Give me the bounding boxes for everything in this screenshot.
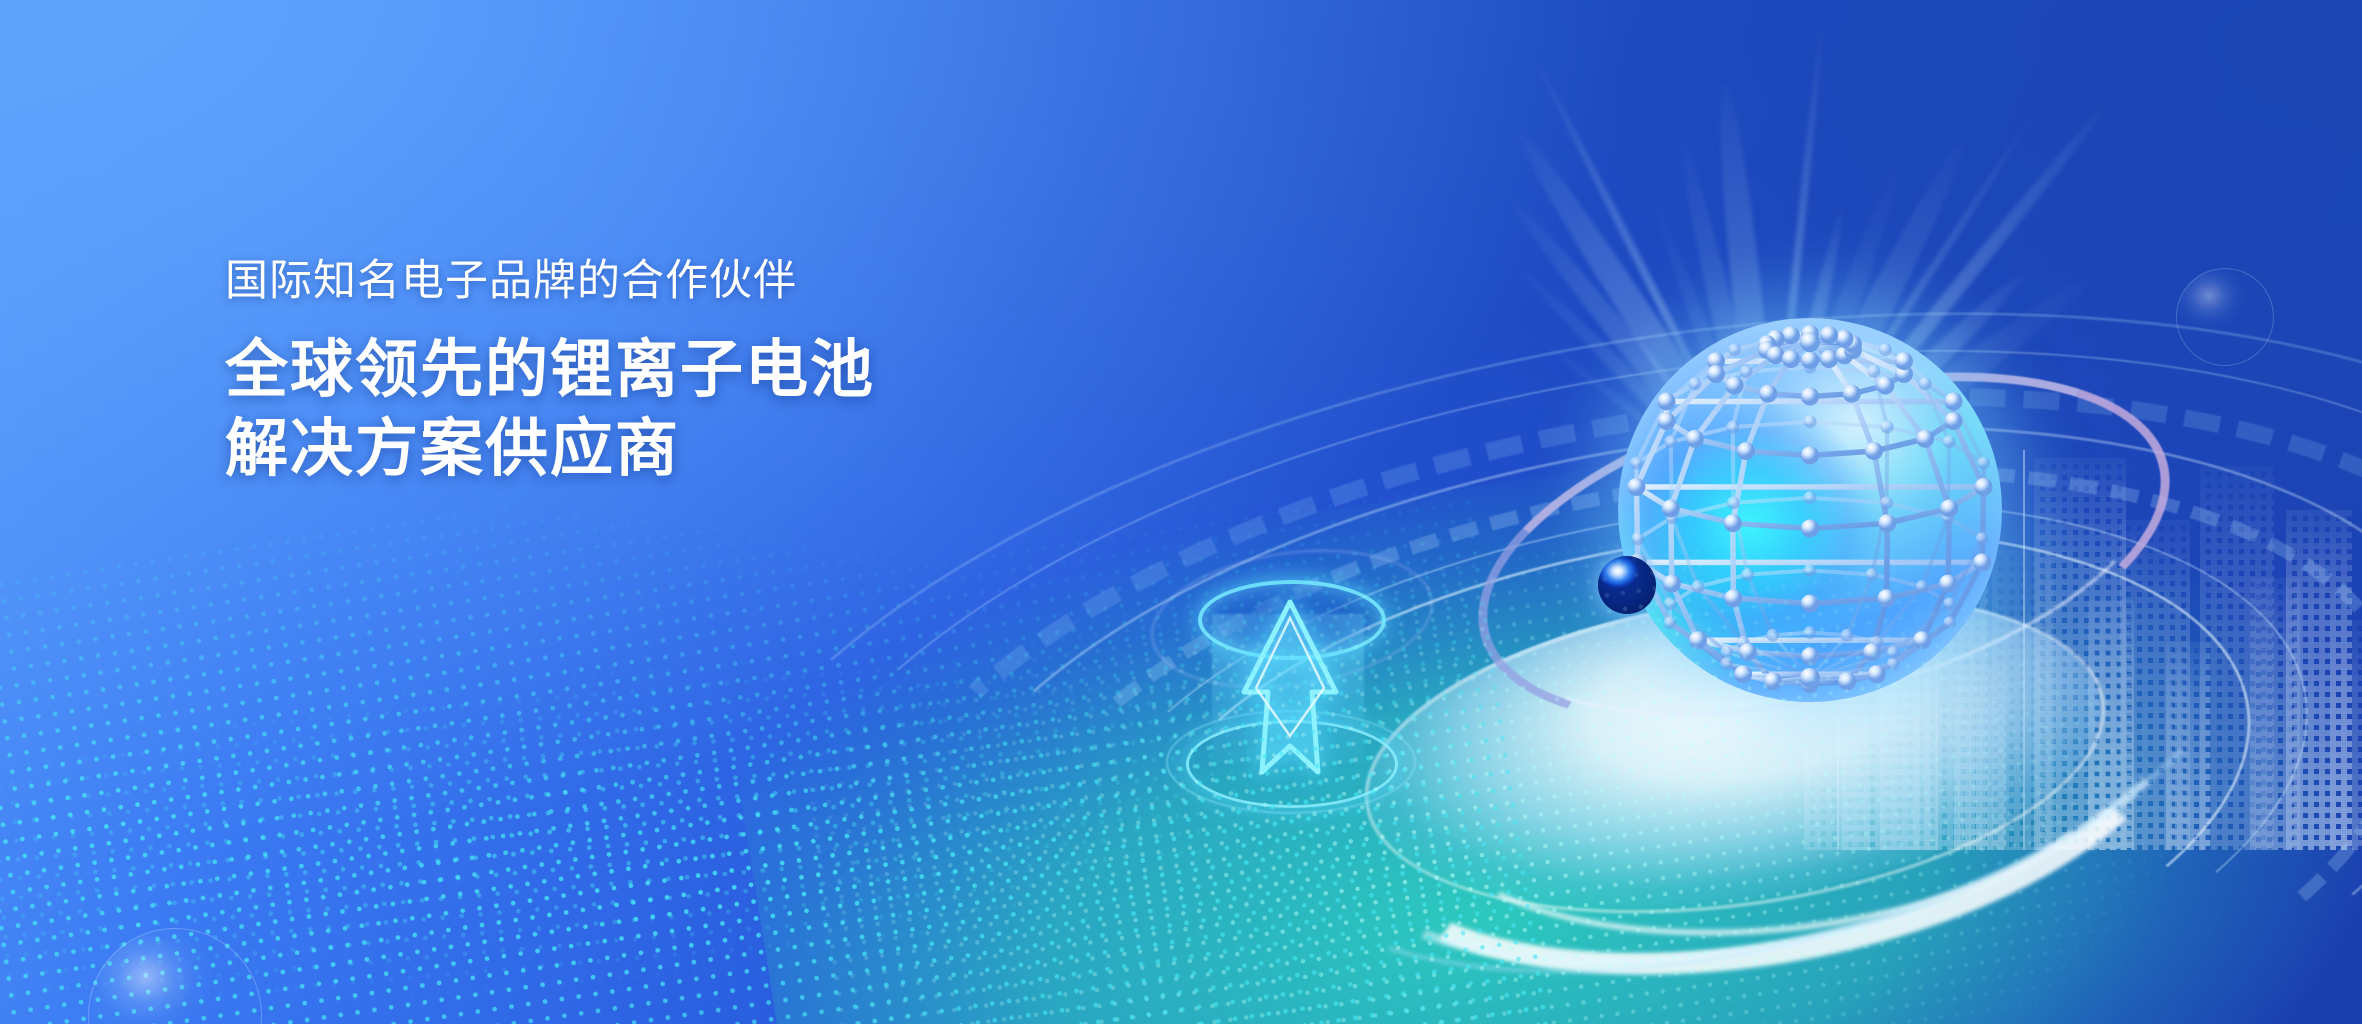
globe-node bbox=[1835, 330, 1853, 348]
globe-pole-node bbox=[1800, 332, 1820, 352]
globe-node bbox=[1662, 499, 1680, 517]
globe-node bbox=[1820, 350, 1838, 368]
globe-node bbox=[1688, 377, 1701, 390]
globe-node bbox=[1726, 421, 1739, 434]
hero-copy: 国际知名电子品牌的合作伙伴 全球领先的锂离子电池 解决方案供应商 bbox=[225, 255, 875, 490]
hero-headline-line1: 全球领先的锂离子电池 bbox=[225, 331, 875, 410]
globe-node bbox=[1801, 446, 1819, 464]
globe-node bbox=[1707, 365, 1725, 383]
globe-node bbox=[1945, 412, 1963, 430]
globe-node bbox=[1767, 346, 1785, 364]
globe-node bbox=[1879, 343, 1892, 356]
globe-node bbox=[1664, 435, 1677, 448]
globe-node bbox=[1895, 352, 1913, 370]
globe-node bbox=[1728, 343, 1741, 356]
globe-node bbox=[1759, 385, 1777, 403]
globe-node bbox=[1977, 457, 1990, 470]
hero-subtitle: 国际知名电子品牌的合作伙伴 bbox=[225, 255, 875, 309]
globe-node bbox=[1801, 351, 1819, 369]
globe-node bbox=[1865, 442, 1883, 460]
globe-node bbox=[1919, 377, 1932, 390]
globe-node bbox=[1737, 442, 1755, 460]
globe-node bbox=[1686, 430, 1704, 448]
globe-node bbox=[1945, 393, 1963, 411]
globe-node bbox=[1726, 377, 1744, 395]
globe-node bbox=[1782, 326, 1800, 344]
globe-node bbox=[1820, 326, 1838, 344]
globe-node bbox=[1801, 388, 1819, 406]
globe-node bbox=[1881, 421, 1894, 434]
globe-node bbox=[1627, 478, 1645, 496]
globe-node bbox=[1843, 385, 1861, 403]
globe-node bbox=[1876, 377, 1894, 395]
globe-node bbox=[1658, 393, 1676, 411]
globe-node bbox=[1867, 365, 1880, 378]
globe-node bbox=[1630, 457, 1643, 470]
globe-node bbox=[1740, 365, 1753, 378]
globe-node bbox=[1782, 350, 1800, 368]
hero-headline-line2: 解决方案供应商 bbox=[225, 410, 875, 489]
globe-node bbox=[1804, 491, 1817, 504]
globe-node bbox=[1943, 435, 1956, 448]
hero-banner: 国际知名电子品牌的合作伙伴 全球领先的锂离子电池 解决方案供应商 bbox=[0, 0, 2362, 1024]
globe-node bbox=[1727, 496, 1740, 509]
globe-node bbox=[1804, 415, 1817, 428]
bubble-icon bbox=[2176, 268, 2274, 366]
globe-node bbox=[1658, 412, 1676, 430]
globe-node bbox=[1916, 430, 1934, 448]
